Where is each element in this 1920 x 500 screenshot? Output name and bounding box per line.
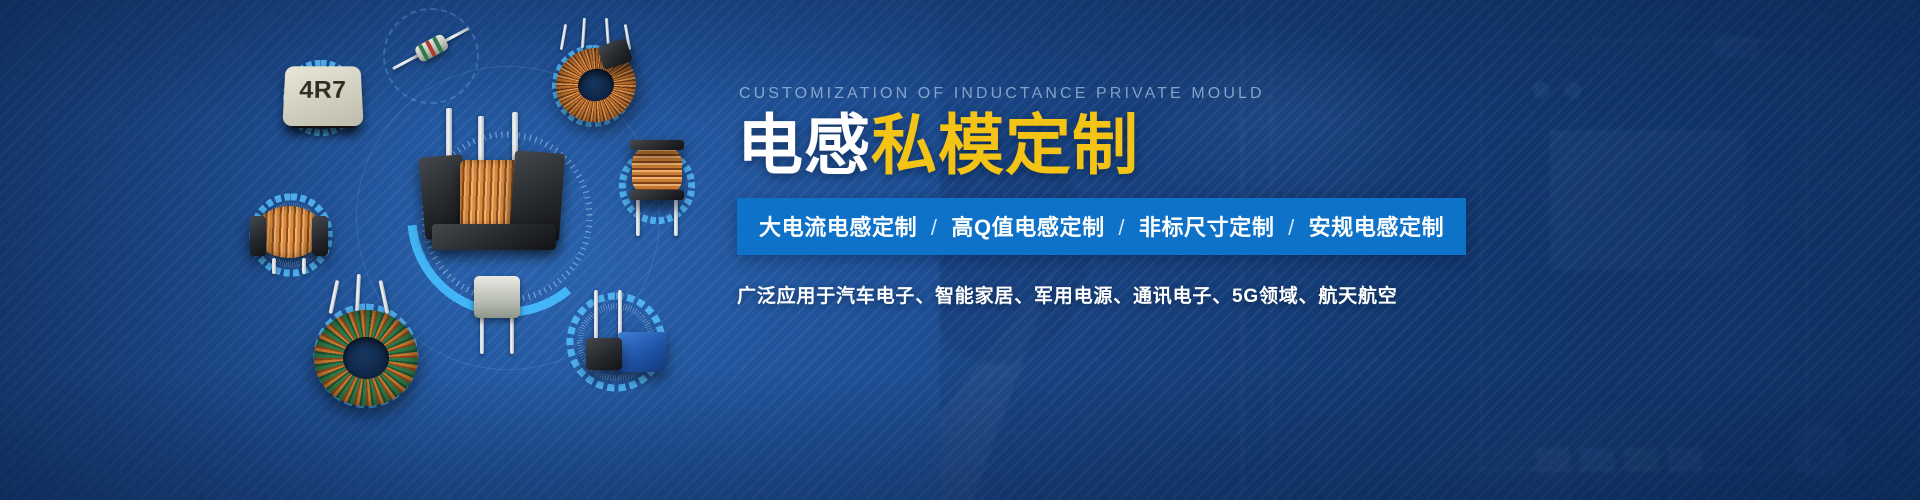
bobbin-lead-left [480,312,484,354]
headline-white-part: 电感 [737,108,871,182]
applications-text: 广泛应用于汽车电子、智能家居、军用电源、通讯电子、5G领域、航天航空 [737,281,1677,308]
promo-banner: 4R7 [0,0,1920,500]
drum-core-bottom [630,190,684,200]
smd-part-label: 4R7 [283,77,362,105]
feature-item-0[interactable]: 大电流电感定制 [759,215,917,240]
headline-gold-part: 私模定制 [871,108,1139,182]
foil-clip-right [312,216,328,256]
feature-item-3[interactable]: 安规电感定制 [1309,215,1445,240]
feature-separator-1: / [1111,215,1132,240]
bobbin-body [474,276,520,318]
foil-lead-2 [302,258,306,274]
blue-base-block [586,338,622,370]
drum-core-top [630,140,684,150]
banner-copy: CUSTOMIZATION OF INDUCTANCE PRIVATE MOUL… [737,84,1677,308]
product-radial-wound-toroid [250,196,332,274]
hero-core-base [432,224,556,250]
feature-item-2[interactable]: 非标尺寸定制 [1139,215,1275,240]
ferrite-toroid-core [314,310,418,406]
product-drum-core-choke [624,140,694,236]
product-blue-epoxy-radial-inductor [578,290,670,390]
banner-eyebrow: CUSTOMIZATION OF INDUCTANCE PRIVATE MOUL… [739,84,1677,103]
feature-bar[interactable]: 大电流电感定制 / 高Q值电感定制 / 非标尺寸定制 / 安规电感定制 [737,198,1466,255]
feature-separator-0: / [924,215,945,240]
product-flat-wire-power-inductor [416,108,576,258]
page-title: 电感私模定制 [737,112,1677,179]
foil-clip-left [250,216,266,256]
feature-separator-2: / [1281,215,1302,240]
blue-lead-left [594,290,598,344]
product-ferrite-core-filter-inductor [310,300,422,412]
product-smd-power-inductor: 4R7 [284,64,362,130]
bobbin-lead-right [510,312,514,354]
foil-lead-1 [272,258,276,274]
blue-epoxy-body [618,332,666,372]
product-small-bobbin-coil [466,268,530,354]
feature-item-1[interactable]: 高Q值电感定制 [951,215,1104,240]
